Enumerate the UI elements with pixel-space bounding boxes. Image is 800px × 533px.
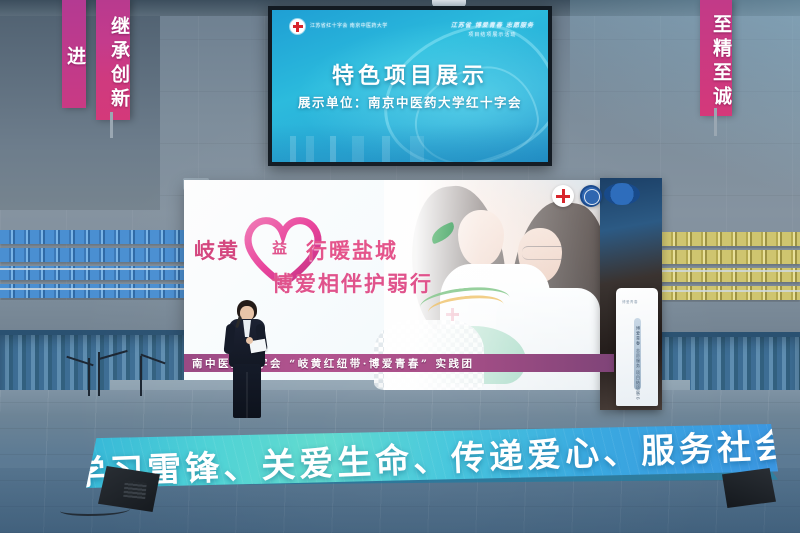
- microphone-stand-icon: [118, 350, 174, 396]
- university-emblem-icon: [580, 185, 602, 207]
- curtain-rail-right: [660, 332, 800, 337]
- university-emblem-icon: [604, 183, 640, 205]
- led-org-logo-text: 江苏省红十字会 南京中医药大学: [310, 23, 388, 31]
- led-screen-content: 江苏省红十字会 南京中医药大学 江苏省 博爱青春 志愿服务 项目结项展示活动 特…: [272, 10, 548, 162]
- presenter-person: [224, 300, 270, 418]
- side-banner-right-outer: 至精至诚: [700, 0, 732, 116]
- event-stage-photo: 进 继承创新 至精至诚 江苏省红十字会 南京中医药大学 江苏省 博爱青春 志愿服…: [0, 0, 800, 533]
- led-display-screen: 江苏省红十字会 南京中医药大学 江苏省 博爱青春 志愿服务 项目结项展示活动 特…: [268, 6, 552, 166]
- seat-row: [662, 232, 800, 246]
- led-main-title: 特色项目展示: [272, 58, 548, 90]
- side-banner-left-outer: 进: [62, 0, 86, 108]
- banner-pole-right: [714, 108, 717, 136]
- led-event-line1: 江苏省 博爱青春 志愿服务: [451, 20, 534, 29]
- bleacher-railing-right-lower: [662, 290, 800, 292]
- seat-row: [0, 230, 188, 244]
- wall-right-light-glow: [570, 0, 800, 200]
- seat-row: [662, 286, 800, 300]
- bleacher-railing-right: [662, 270, 800, 272]
- curtain-rail-left: [0, 330, 190, 335]
- event-standee-banner: 博爱青春 博爱青春 志愿服务 项目结项展示: [616, 288, 658, 406]
- seat-row: [0, 248, 188, 262]
- backdrop-logo-group: [552, 185, 602, 207]
- red-cross-logo-icon: [552, 185, 574, 207]
- led-org-logo: 江苏省红十字会 南京中医药大学: [290, 19, 388, 34]
- bleacher-railing-left-lower: [0, 288, 188, 290]
- led-event-label: 江苏省 博爱青春 志愿服务 项目结项展示活动: [451, 20, 534, 38]
- headline-part1: 岐黄: [194, 238, 240, 263]
- led-subtitle: 展示单位：南京中医药大学红十字会: [272, 92, 548, 111]
- headline-part2: 行暖盐城: [306, 238, 398, 263]
- presenter-hand: [246, 337, 253, 344]
- led-skyline-graphic: [272, 124, 548, 162]
- seat-row: [662, 250, 800, 264]
- backdrop-headline-line1: 岐黄行暖盐城: [194, 235, 398, 265]
- banner-pole-left: [110, 112, 113, 138]
- standee-top-label: 博爱青春: [622, 300, 638, 305]
- side-banner-left-inner: 继承创新: [96, 0, 130, 120]
- stage-monitor-speaker-right: [722, 468, 776, 508]
- backdrop-headline-line2: 博爱相伴护弱行: [272, 268, 433, 298]
- seat-row: [0, 284, 188, 298]
- bleacher-railing-left: [0, 268, 188, 270]
- heart-center-char: 益: [272, 237, 287, 258]
- standee-vertical-label: 博爱青春 志愿服务 项目结项展示: [635, 326, 641, 401]
- led-event-line2: 项目结项展示活动: [451, 31, 534, 38]
- presenter-trousers: [233, 364, 261, 418]
- red-cross-icon: [290, 19, 305, 34]
- stage-monitor-speaker-left: [98, 466, 160, 512]
